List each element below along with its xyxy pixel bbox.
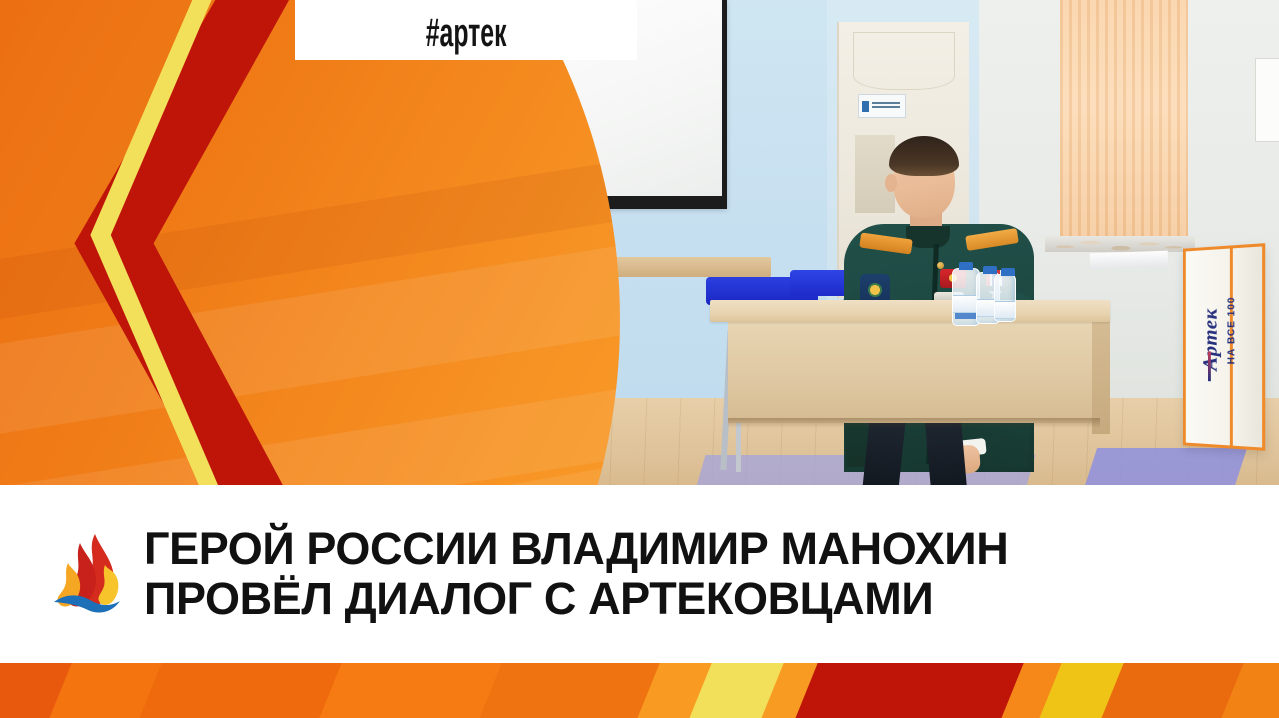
officer-leg-left: [862, 418, 905, 487]
wall-notice: [1255, 58, 1279, 142]
stripe-shape: [133, 663, 346, 718]
desk-front-panel: [728, 318, 1100, 423]
window-blind: [1060, 0, 1188, 238]
artek-flame-logo-icon: [48, 531, 126, 617]
desk-side-panel: [1092, 312, 1110, 434]
officer-ear: [885, 174, 897, 192]
stripe-shape: [313, 663, 506, 718]
water-bottle: [994, 274, 1016, 322]
bottom-stripe: [0, 663, 1279, 718]
banner-sub-text: НА ВСЕ 100: [1226, 282, 1237, 379]
uniform-button: [937, 262, 944, 269]
banner-swash: [1208, 351, 1211, 381]
back-table-leg: [563, 275, 571, 370]
floor-mat: [1083, 448, 1247, 487]
headline: ГЕРОЙ РОССИИ ВЛАДИМИР МАНОХИН ПРОВЁЛ ДИА…: [144, 524, 1279, 624]
door-sign-icon: [862, 101, 869, 112]
bottle-cap: [983, 266, 997, 274]
door-panel: [853, 32, 955, 90]
desk-top: [710, 300, 1110, 322]
desk-shadow: [728, 418, 1100, 428]
officer-hair: [889, 136, 959, 176]
papers-on-sill: [1090, 251, 1169, 270]
door-sign-lines: [872, 102, 900, 104]
hashtag-text: #артек: [426, 11, 507, 56]
photograph: Артек НА ВСЕ 100: [0, 0, 1279, 487]
stripe-shape: [473, 663, 666, 718]
bottle-cap: [1001, 268, 1015, 276]
back-table: [556, 257, 771, 277]
officer-legs: [866, 420, 996, 487]
uniform-collar: [906, 226, 950, 248]
bottle-cap: [959, 262, 973, 270]
hashtag-badge: #артек: [295, 0, 637, 60]
artek-banner-stand: Артек НА ВСЕ 100: [1183, 243, 1265, 451]
stripe-shape-red: [789, 663, 1032, 718]
bottle-label: [995, 301, 1015, 319]
officer-leg-right: [925, 419, 967, 487]
door-sign: [858, 94, 906, 118]
headline-line-2: ПРОВЁЛ ДИАЛОГ С АРТЕКОВЦАМИ: [144, 574, 1279, 624]
bottle-label-stripe: [955, 313, 977, 319]
banner-text-block: Артек НА ВСЕ 100: [1188, 279, 1232, 410]
headline-line-1: ГЕРОЙ РОССИИ ВЛАДИМИР МАНОХИН: [144, 524, 1279, 574]
thumbnail-stage: Артек НА ВСЕ 100 #артек: [0, 0, 1279, 718]
title-band: ГЕРОЙ РОССИИ ВЛАДИМИР МАНОХИН ПРОВЁЛ ДИА…: [0, 485, 1279, 663]
patch-emblem: [868, 283, 882, 297]
